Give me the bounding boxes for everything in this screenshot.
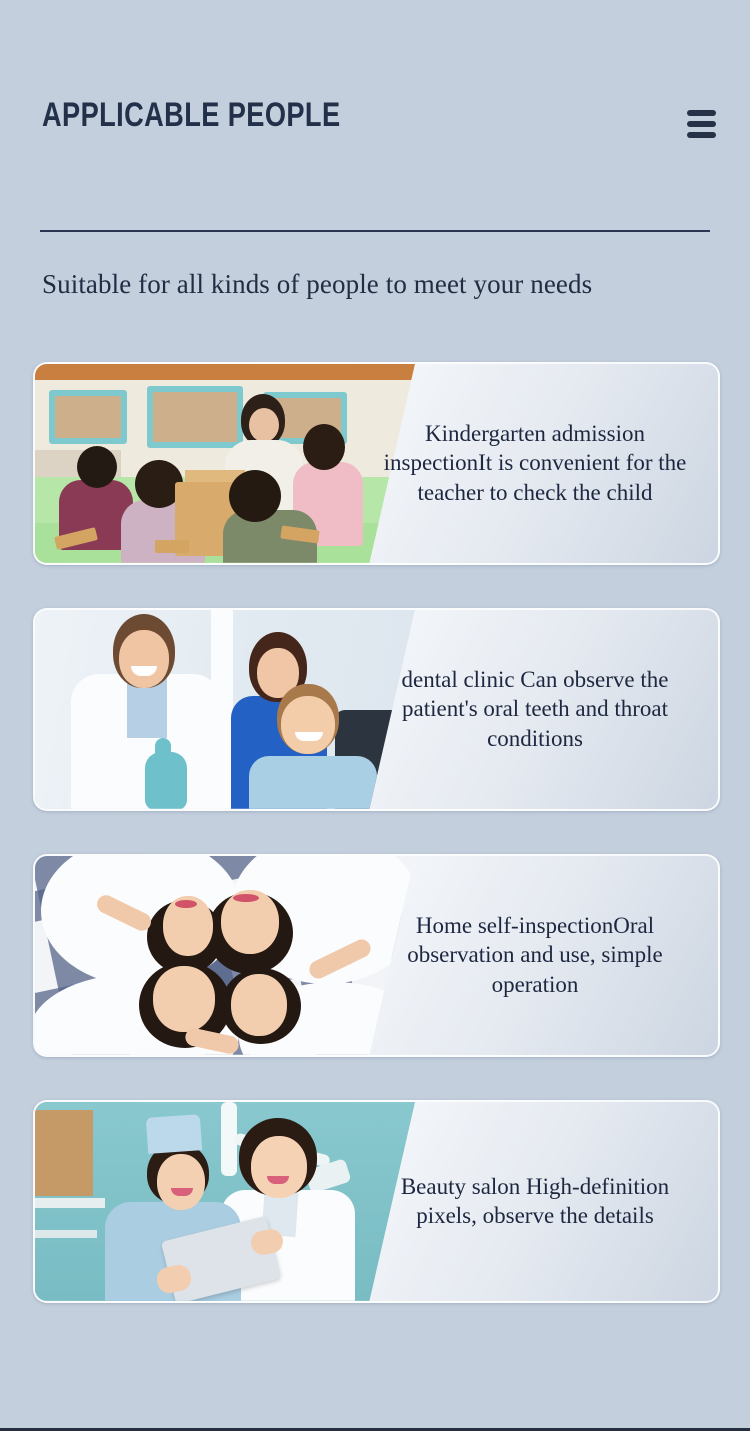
- menu-bar-bottom: [687, 132, 716, 138]
- card-image-dental-clinic: [35, 610, 415, 809]
- header-divider: [40, 230, 710, 232]
- page-title: APPLICABLE PEOPLE: [42, 98, 576, 132]
- card-description-text: dental clinic Can observe the patient's …: [370, 665, 700, 753]
- page-subtitle: Suitable for all kinds of people to meet…: [42, 270, 750, 300]
- card-image-kindergarten: [35, 364, 415, 563]
- menu-bar-top: [687, 110, 716, 116]
- card-description: Kindergarten admission inspectionIt is c…: [370, 364, 700, 563]
- applicable-people-card-list: Kindergarten admission inspectionIt is c…: [0, 362, 750, 1303]
- card-description-text: Home self-inspectionOral observation and…: [370, 911, 700, 999]
- hamburger-menu-icon[interactable]: [679, 102, 723, 146]
- list-item[interactable]: dental clinic Can observe the patient's …: [33, 608, 720, 811]
- page-root: APPLICABLE PEOPLE Suitable for all kinds…: [0, 0, 750, 1431]
- card-description: dental clinic Can observe the patient's …: [370, 610, 700, 809]
- list-item[interactable]: Home self-inspectionOral observation and…: [33, 854, 720, 1057]
- list-item[interactable]: Beauty salon High-definition pixels, obs…: [33, 1100, 720, 1303]
- list-item[interactable]: Kindergarten admission inspectionIt is c…: [33, 362, 720, 565]
- card-description: Beauty salon High-definition pixels, obs…: [370, 1102, 700, 1301]
- page-header: APPLICABLE PEOPLE: [0, 0, 750, 175]
- card-description-text: Kindergarten admission inspectionIt is c…: [370, 419, 700, 507]
- card-image-family: [35, 856, 415, 1055]
- card-description: Home self-inspectionOral observation and…: [370, 856, 700, 1055]
- card-description-text: Beauty salon High-definition pixels, obs…: [370, 1172, 700, 1231]
- card-image-beauty-salon: [35, 1102, 415, 1301]
- menu-bar-middle: [687, 121, 716, 127]
